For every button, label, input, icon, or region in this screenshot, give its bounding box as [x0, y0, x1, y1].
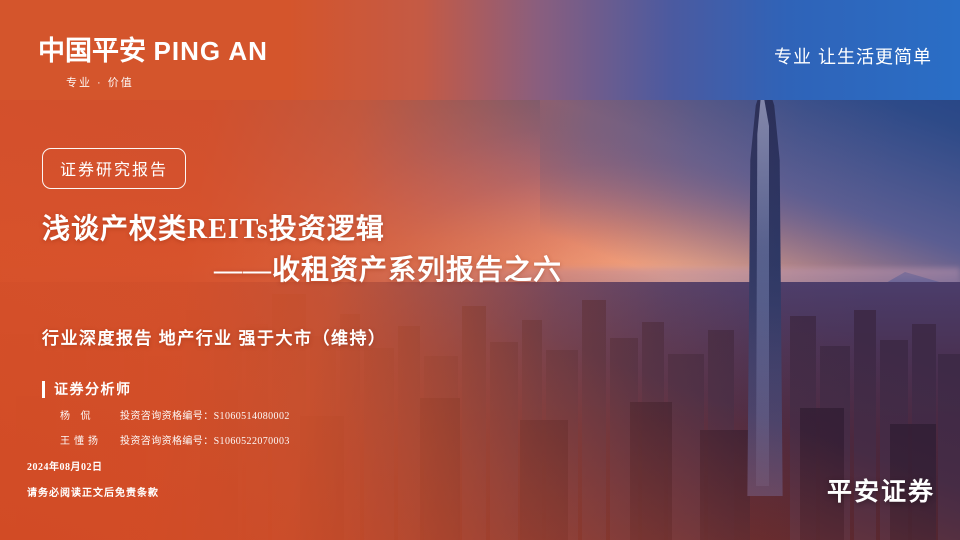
report-date: 2024年08月02日	[27, 458, 103, 473]
report-subtitle: 行业深度报告 地产行业 强于大市（维持）	[42, 324, 387, 349]
disclaimer-text: 请务必阅读正文后免责条款	[27, 484, 159, 499]
title-block: 浅谈产权类REITs投资逻辑 ——收租资产系列报告之六	[42, 212, 922, 288]
analyst-section-title: 证券分析师	[54, 379, 132, 399]
report-title-line2: ——收租资产系列报告之六	[42, 253, 922, 288]
footer-brand: 平安证券	[827, 472, 935, 508]
header-slogan: 专业 让生活更简单	[774, 43, 932, 69]
pingan-logo: 中国平安 PING AN 专业 · 价值	[38, 38, 268, 90]
report-cover: 中国平安 PING AN 专业 · 价值 专业 让生活更简单 证券研究报告 浅谈…	[0, 0, 960, 540]
accent-bar	[42, 381, 45, 398]
analyst-section-header: 证券分析师	[42, 379, 132, 399]
logo-wordmark: 中国平安 PING AN	[38, 38, 268, 65]
analyst-certificate: 投资咨询资格编号：S1060514080002	[120, 407, 290, 422]
logo-english: PING AN	[154, 36, 268, 66]
logo-tagline: 专业 · 价值	[66, 74, 268, 90]
report-title-line1: 浅谈产权类REITs投资逻辑	[42, 212, 922, 247]
analyst-row: 杨 侃 投资咨询资格编号：S1060514080002	[60, 407, 290, 422]
analyst-name: 杨 侃	[60, 407, 120, 422]
analyst-list: 杨 侃 投资咨询资格编号：S1060514080002 王懂扬 投资咨询资格编号…	[60, 407, 290, 457]
analyst-certificate: 投资咨询资格编号：S1060522070003	[120, 432, 290, 447]
analyst-name: 王懂扬	[60, 432, 120, 447]
logo-chinese: 中国平安	[38, 36, 146, 66]
analyst-row: 王懂扬 投资咨询资格编号：S1060522070003	[60, 432, 290, 447]
report-type-badge: 证券研究报告	[42, 148, 186, 189]
